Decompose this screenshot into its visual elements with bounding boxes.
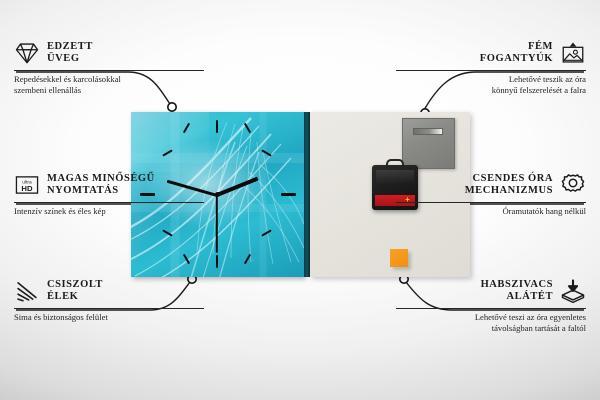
feature-title: EDZETT ÜVEG [47,41,93,66]
feature-rule [396,70,586,71]
clock-tick-12 [216,120,218,133]
feature-title: FÉM FOGANTYÚK [480,41,553,66]
ultra-hd-icon: ultra HD [14,172,40,198]
product-feature-infographic: + EDZETT ÜVEG Repedésekkel és karcolások… [0,0,600,400]
bracket-slot [413,128,443,135]
feature-header: HABSZIVACS ALÁTÉT [396,278,586,304]
feature-header: ultra HD MAGAS MINŐSÉGŰ NYOMTATÁS [14,172,204,198]
feature-rule [14,308,204,309]
diamond-icon [14,40,40,66]
metal-hanging-bracket [402,118,455,169]
feature-title: CSISZOLT ÉLEK [47,279,103,304]
feature-header: FÉM FOGANTYÚK [396,40,586,66]
feature-rule [396,202,586,203]
feature-description: Sima és biztonságos felület [14,312,204,323]
feature-high-quality-print: ultra HD MAGAS MINŐSÉGŰ NYOMTATÁS Intenz… [14,172,204,217]
arrow-onto-pad-icon [560,278,586,304]
feature-description: Lehetővé teszik az óra könnyű felszerelé… [396,74,586,95]
feature-polished-edges: CSISZOLT ÉLEK Sima és biztonságos felüle… [14,278,204,323]
feature-rule [14,202,204,203]
polished-edges-icon [14,278,40,304]
feature-metal-handles: FÉM FOGANTYÚK Lehetővé teszik az óra kön… [396,40,586,95]
feature-title: MAGAS MINŐSÉGŰ NYOMTATÁS [47,173,155,198]
feature-description: Óramutatók hang nélkül [396,206,586,217]
feature-title: CSENDES ÓRA MECHANIZMUS [465,173,553,198]
endpoint-tempered-glass [168,103,176,111]
feature-title: HABSZIVACS ALÁTÉT [481,279,553,304]
feature-silent-mechanism: CSENDES ÓRA MECHANIZMUS Óramutatók hang … [396,172,586,217]
clock-second-hand [216,195,218,253]
feature-description: Lehetővé teszi az óra egyenletes távolsá… [396,312,586,333]
feature-foam-pad: HABSZIVACS ALÁTÉT Lehetővé teszi az óra … [396,278,586,333]
gear-icon [560,172,586,198]
movement-hanger-loop [386,159,404,168]
feature-header: EDZETT ÜVEG [14,40,204,66]
feature-description: Repedésekkel és karcolásokkal szembeni e… [14,74,204,95]
clock-center-hub [215,192,220,197]
feature-header: CSENDES ÓRA MECHANIZMUS [396,172,586,198]
clock-tick-3 [281,193,296,196]
feature-rule [14,70,204,71]
feature-tempered-glass: EDZETT ÜVEG Repedésekkel és karcolásokka… [14,40,204,95]
svg-text:HD: HD [21,184,33,193]
picture-frame-hook-icon [560,40,586,66]
feature-header: CSISZOLT ÉLEK [14,278,204,304]
feature-description: Intenzív színek és éles kép [14,206,204,217]
clock-tick-6 [216,255,218,268]
foam-spacer-pad [390,249,408,267]
feature-rule [396,308,586,309]
